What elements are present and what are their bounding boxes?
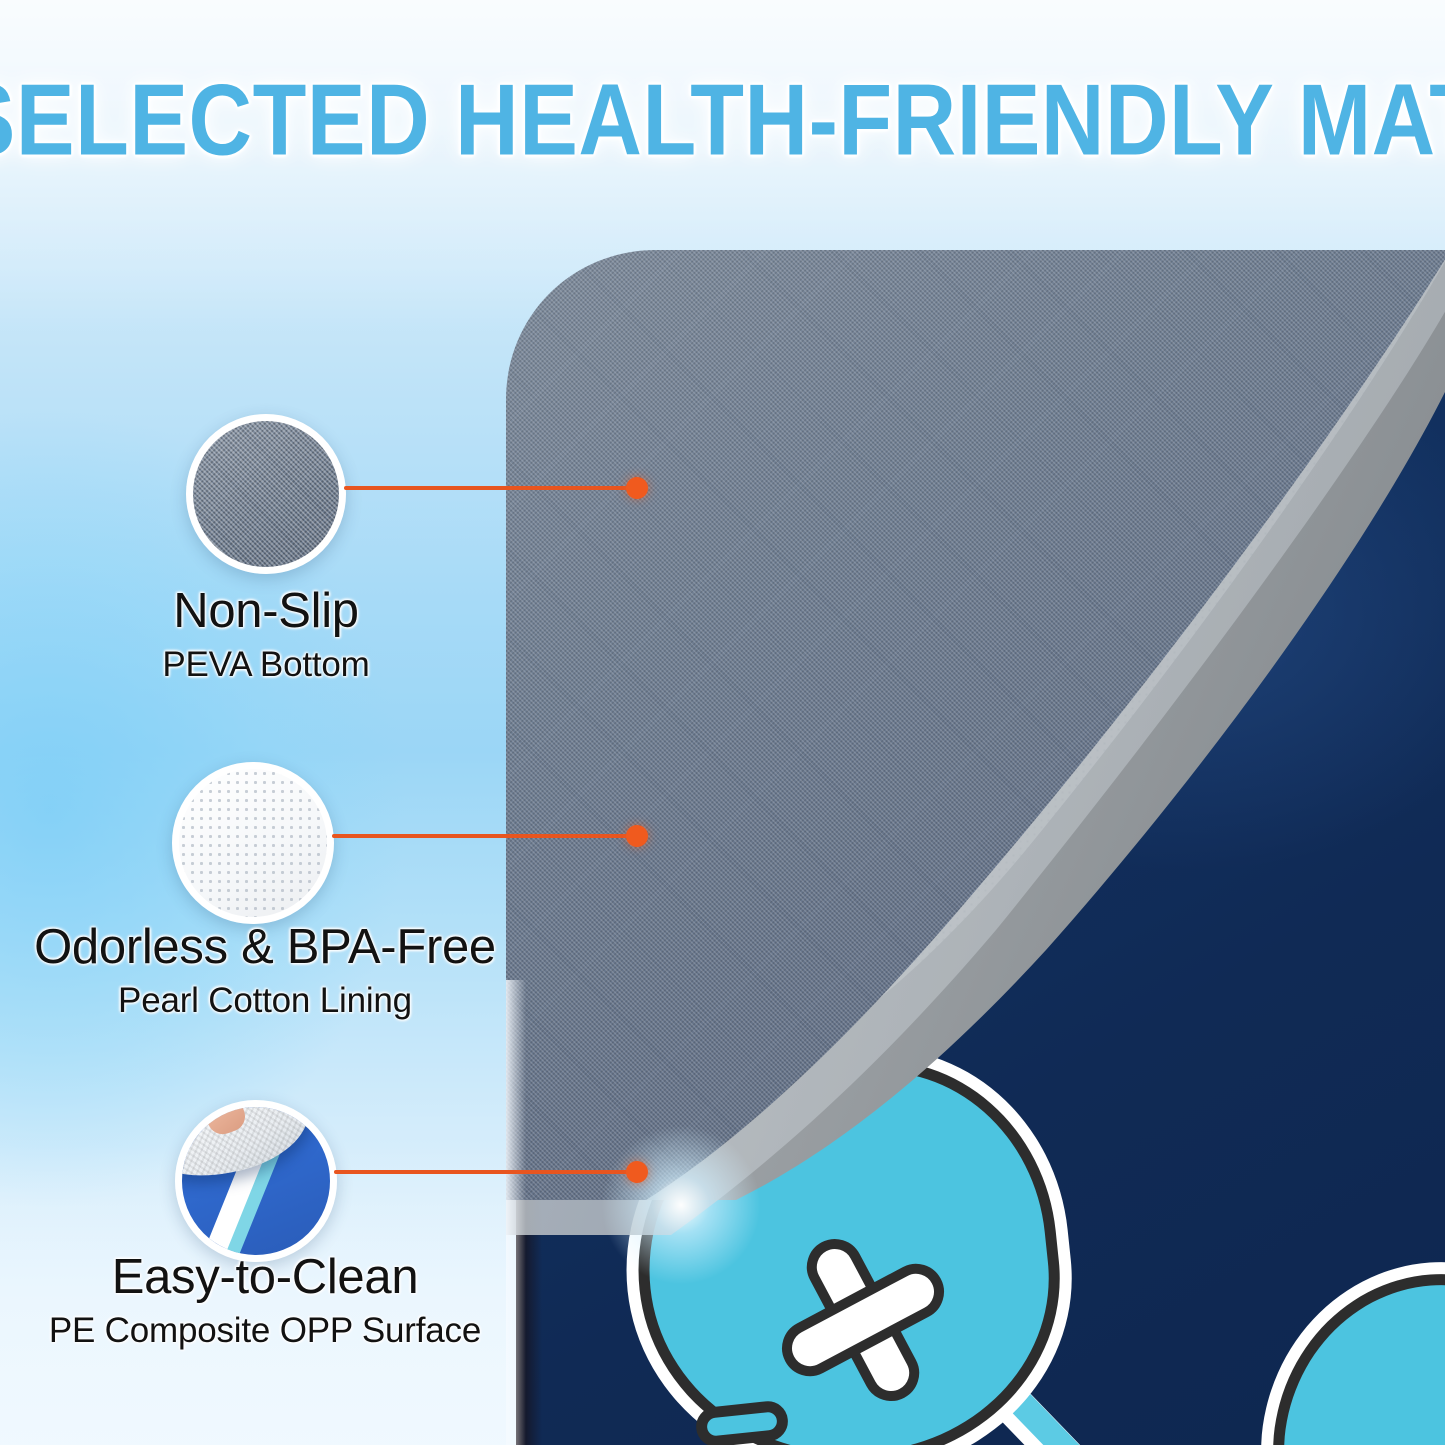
pearl-cotton-swatch <box>172 762 334 924</box>
easy-clean-swatch <box>175 1100 337 1262</box>
label-easy-clean-title: Easy-to-Clean <box>0 1252 530 1304</box>
label-non-slip: Non-Slip PEVA Bottom <box>66 586 466 686</box>
leader-line-easy-clean <box>334 1170 636 1174</box>
leader-dot-non-slip <box>626 477 648 499</box>
leader-line-non-slip <box>344 486 636 490</box>
label-odorless: Odorless & BPA-Free Pearl Cotton Lining <box>0 922 530 1022</box>
label-odorless-title: Odorless & BPA-Free <box>0 922 530 974</box>
mat-left-soft-edge <box>506 980 526 1445</box>
label-non-slip-subtitle: PEVA Bottom <box>66 644 466 686</box>
leader-dot-odorless <box>626 825 648 847</box>
page-title: SELECTED HEALTH-FRIENDLY MATERIALS <box>0 62 1445 179</box>
label-easy-clean-subtitle: PE Composite OPP Surface <box>0 1310 530 1352</box>
label-easy-clean: Easy-to-Clean PE Composite OPP Surface <box>0 1252 530 1352</box>
label-non-slip-title: Non-Slip <box>66 586 466 638</box>
leader-dot-easy-clean <box>626 1161 648 1183</box>
label-odorless-subtitle: Pearl Cotton Lining <box>0 980 530 1022</box>
leader-line-odorless <box>332 834 636 838</box>
non-slip-swatch <box>186 414 346 574</box>
infographic-canvas: SELECTED HEALTH-FRIENDLY MATERIALS <box>0 0 1445 1445</box>
